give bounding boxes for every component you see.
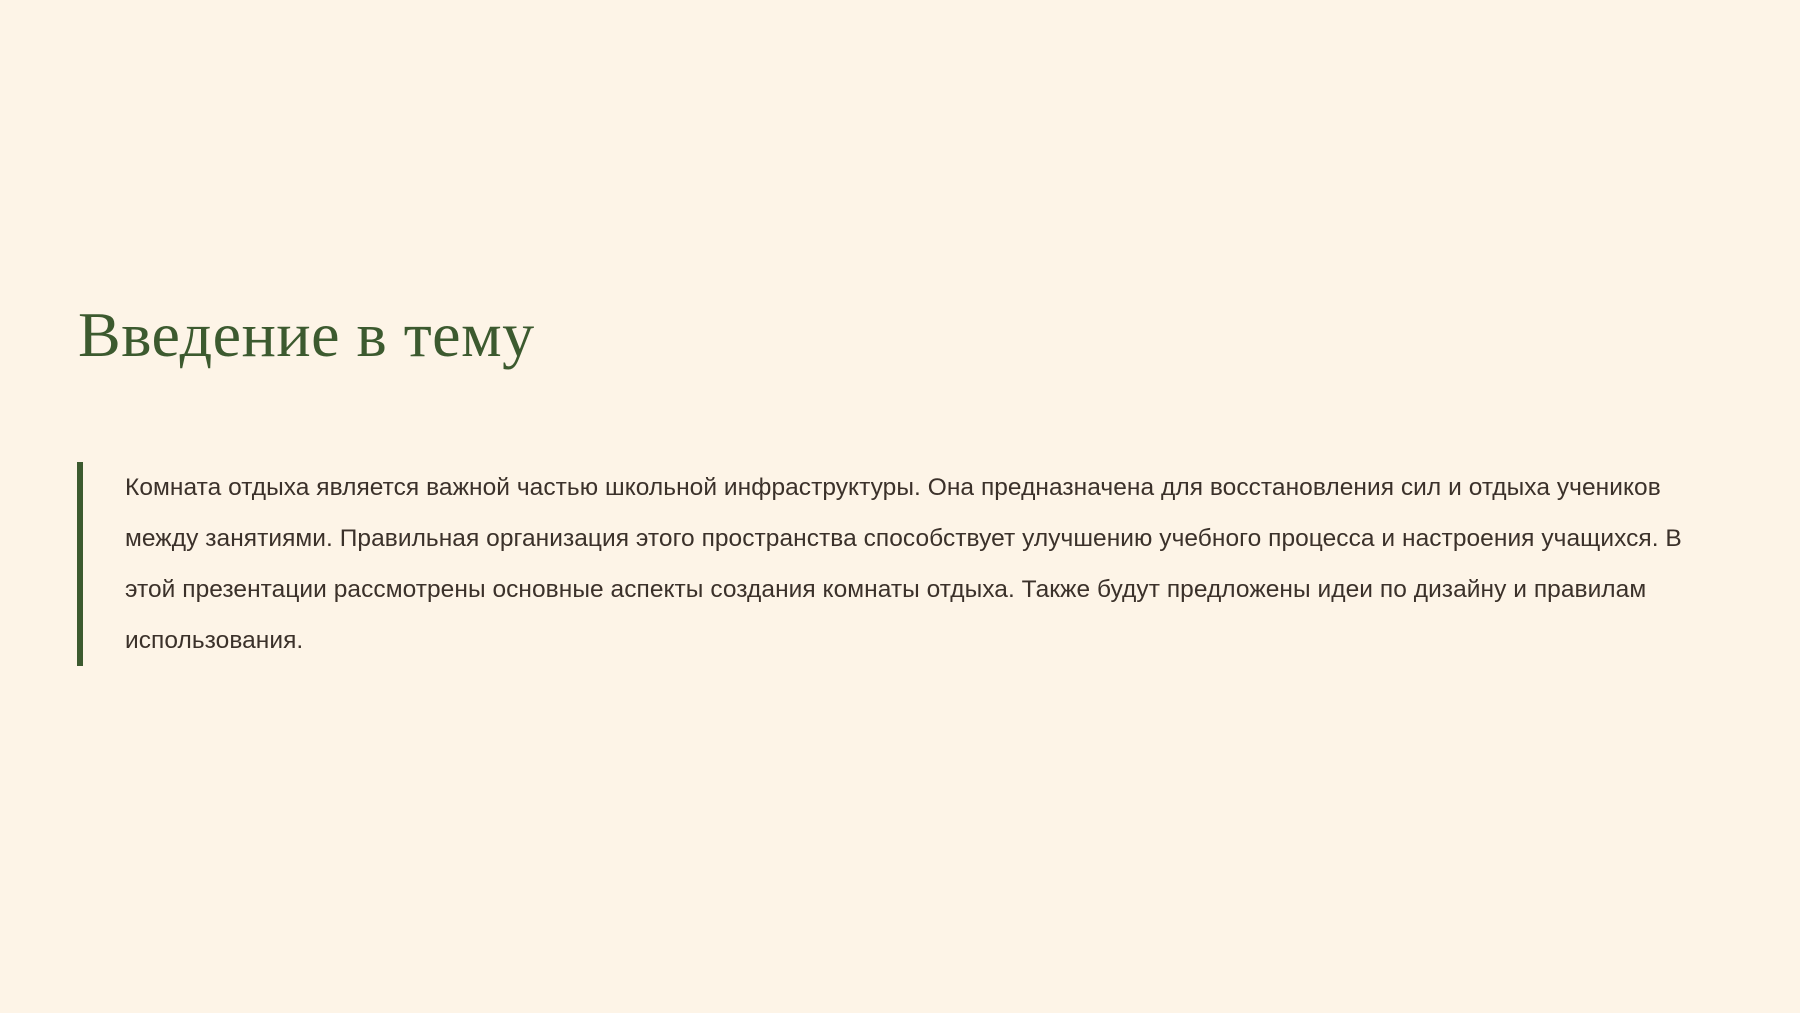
body-callout-block: Комната отдыха является важной частью шк… [77,462,1702,666]
page-title: Введение в тему [78,298,535,372]
presentation-slide: Введение в тему Комната отдыха является … [0,0,1800,1013]
body-paragraph: Комната отдыха является важной частью шк… [83,462,1702,666]
